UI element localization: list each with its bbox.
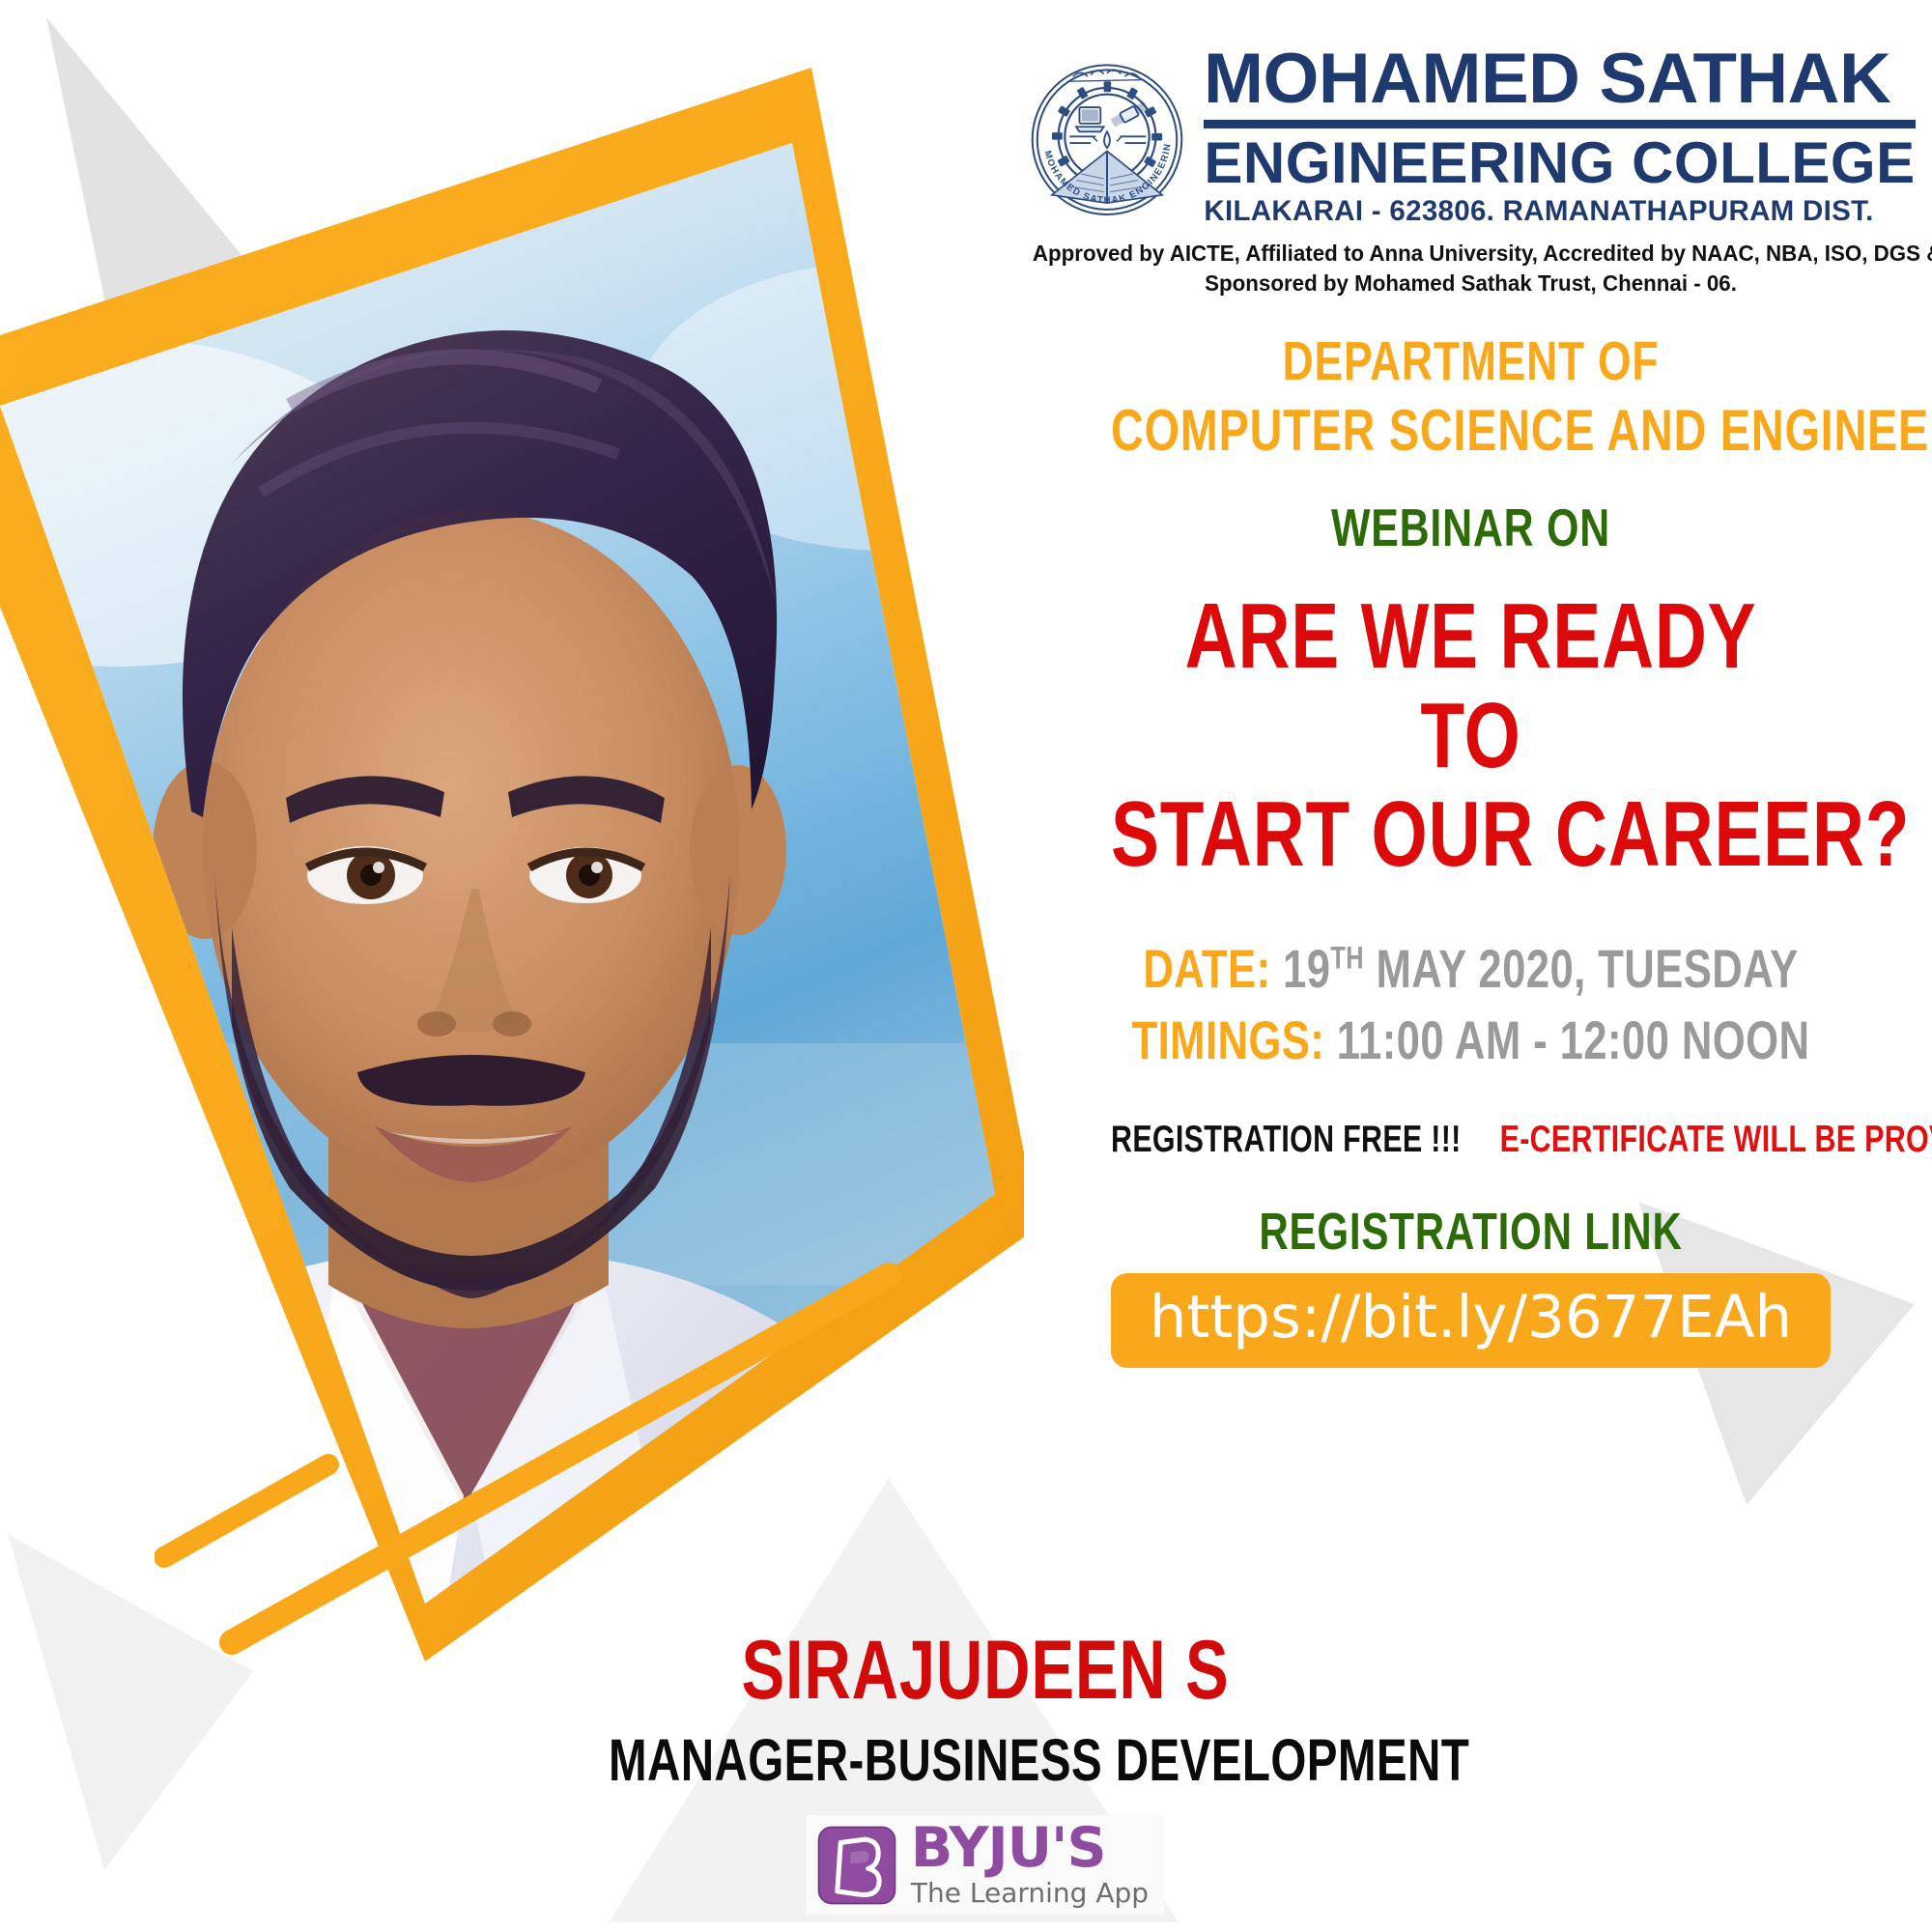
college-approval-text: Approved by AICTE, Affiliated to Anna Un…	[1033, 239, 1909, 297]
registration-notes: REGISTRATION FREE !!! E-CERTIFICATE WILL…	[1111, 1119, 1831, 1161]
timings-label: TIMINGS:	[1132, 1009, 1325, 1070]
registration-free-note: REGISTRATION FREE !!!	[1111, 1119, 1462, 1160]
registration-link-button[interactable]: https://bit.ly/3677EAh	[1111, 1273, 1831, 1368]
registration-link-title: REGISTRATION LINK	[1111, 1202, 1831, 1262]
byjus-b-mark-icon	[816, 1825, 897, 1906]
date-value-rest: MAY 2020, TUESDAY	[1376, 938, 1798, 999]
event-title-line-1: ARE WE READY	[1111, 587, 1831, 687]
department-block: DEPARTMENT OF COMPUTER SCIENCE AND ENGIN…	[1009, 330, 1932, 464]
event-title-line-2: TO	[1111, 687, 1831, 786]
approval-line-1: Approved by AICTE, Affiliated to Anna Un…	[1033, 239, 1909, 268]
date-row: DATE: 19TH MAY 2020, TUESDAY	[1111, 933, 1831, 1005]
byjus-wordmark: BYJU'S	[911, 1821, 1149, 1876]
college-name-line1: MOHAMED SATHAK	[1204, 46, 1929, 113]
webinar-kicker: WEBINAR ON	[1111, 497, 1831, 558]
schedule-block: DATE: 19TH MAY 2020, TUESDAY TIMINGS: 11…	[1009, 933, 1932, 1076]
speaker-block: SIRAJUDEEN S MANAGER-BUSINESS DEVELOPMEN…	[502, 1623, 1468, 1915]
webinar-poster: MOHAMED SATHAK ENGINEERING COLLEGE MOHAM…	[0, 0, 1932, 1932]
timings-value: 11:00 AM - 12:00 NOON	[1337, 1009, 1810, 1070]
college-name-line2: ENGINEERING COLLEGE	[1204, 134, 1915, 192]
event-title-line-3: START OUR CAREER?	[1111, 785, 1831, 885]
speaker-name: SIRAJUDEEN S	[609, 1623, 1362, 1719]
event-title: ARE WE READY TO START OUR CAREER?	[1009, 587, 1932, 885]
timings-row: TIMINGS: 11:00 AM - 12:00 NOON	[1111, 1005, 1831, 1076]
byjus-tagline: The Learning App	[911, 1878, 1149, 1909]
college-name-divider	[1204, 120, 1915, 128]
approval-line-2: Sponsored by Mohamed Sathak Trust, Chenn…	[1033, 269, 1909, 298]
college-address: KILAKARAI - 623806. RAMANATHAPURAM DIST.	[1204, 192, 1915, 231]
speaker-photo-block	[0, 0, 1024, 1739]
college-header: MOHAMED SATHAK ENGINEERING COLLEGE MOHAM…	[1009, 0, 1932, 230]
registration-link-wrapper: https://bit.ly/3677EAh	[1009, 1273, 1932, 1368]
registration-link-url[interactable]: https://bit.ly/3677EAh	[1150, 1287, 1792, 1349]
date-label: DATE:	[1143, 938, 1270, 999]
college-emblem-icon: MOHAMED SATHAK ENGINEERING COLLEGE	[1026, 57, 1188, 219]
e-certificate-note: E-CERTIFICATE WILL BE PROVIDED !!!	[1500, 1119, 1932, 1160]
department-line-1: DEPARTMENT OF	[1111, 330, 1831, 392]
byjus-logo: BYJU'S The Learning App	[807, 1815, 1164, 1915]
date-value-ordinal: TH	[1330, 940, 1364, 975]
college-name-block: MOHAMED SATHAK ENGINEERING COLLEGE KILAK…	[1204, 46, 1915, 230]
orange-diagonal-stripe	[155, 1246, 1024, 1671]
date-value-number: 19	[1283, 938, 1330, 999]
byjus-wordmark-block: BYJU'S The Learning App	[911, 1821, 1149, 1909]
speaker-role: MANAGER-BUSINESS DEVELOPMENT	[609, 1726, 1362, 1794]
department-line-2: COMPUTER SCIENCE AND ENGINEERING	[1111, 398, 1831, 464]
